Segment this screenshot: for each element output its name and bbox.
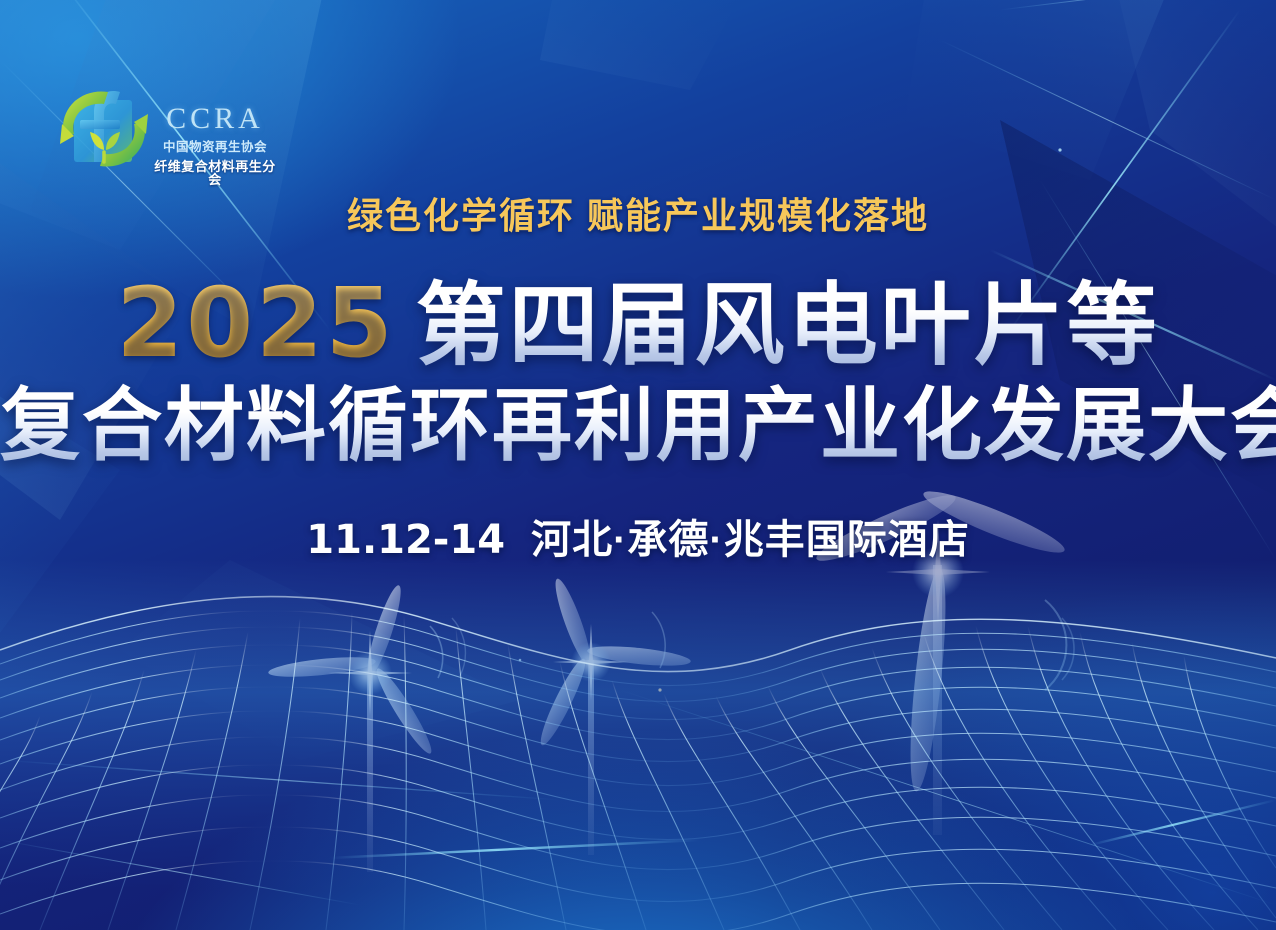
wind-turbine-left [267, 583, 465, 872]
poster-title-line-1: 2025第四届风电叶片等 [0, 272, 1276, 376]
event-details: 11.12-14河北·承德·兆丰国际酒店 [0, 507, 1276, 565]
logo-branch-name: 纤维复合材料再生分会 [150, 160, 280, 186]
ccra-logo: CCRA 中国物资再生协会 纤维复合材料再生分会 [40, 66, 270, 201]
poster-content: 绿色化学循环 赋能产业规模化落地 2025第四届风电叶片等 复合材料循环再利用产… [0, 196, 1276, 565]
logo-acronym: CCRA [150, 104, 280, 134]
poster-title-line-2: 复合材料循环再利用产业化发展大会 [0, 381, 1276, 471]
poster-year: 2025 [116, 267, 415, 379]
conference-poster: CCRA 中国物资再生协会 纤维复合材料再生分会 绿色化学循环 赋能产业规模化落… [0, 0, 1276, 930]
logo-org-name: 中国物资再生协会 [150, 141, 280, 154]
poster-title-main: 第四届风电叶片等 [416, 276, 1160, 376]
mesh-crest-line [0, 597, 1276, 672]
ccra-logo-mark [40, 66, 168, 194]
event-date: 11.12-14 [306, 517, 531, 563]
poster-tagline: 绿色化学循环 赋能产业规模化落地 [0, 196, 1276, 236]
ccra-logo-text: CCRA 中国物资再生协会 纤维复合材料再生分会 [150, 104, 280, 186]
wind-turbine-mid [535, 576, 692, 855]
event-location: 河北·承德·兆丰国际酒店 [531, 518, 970, 562]
